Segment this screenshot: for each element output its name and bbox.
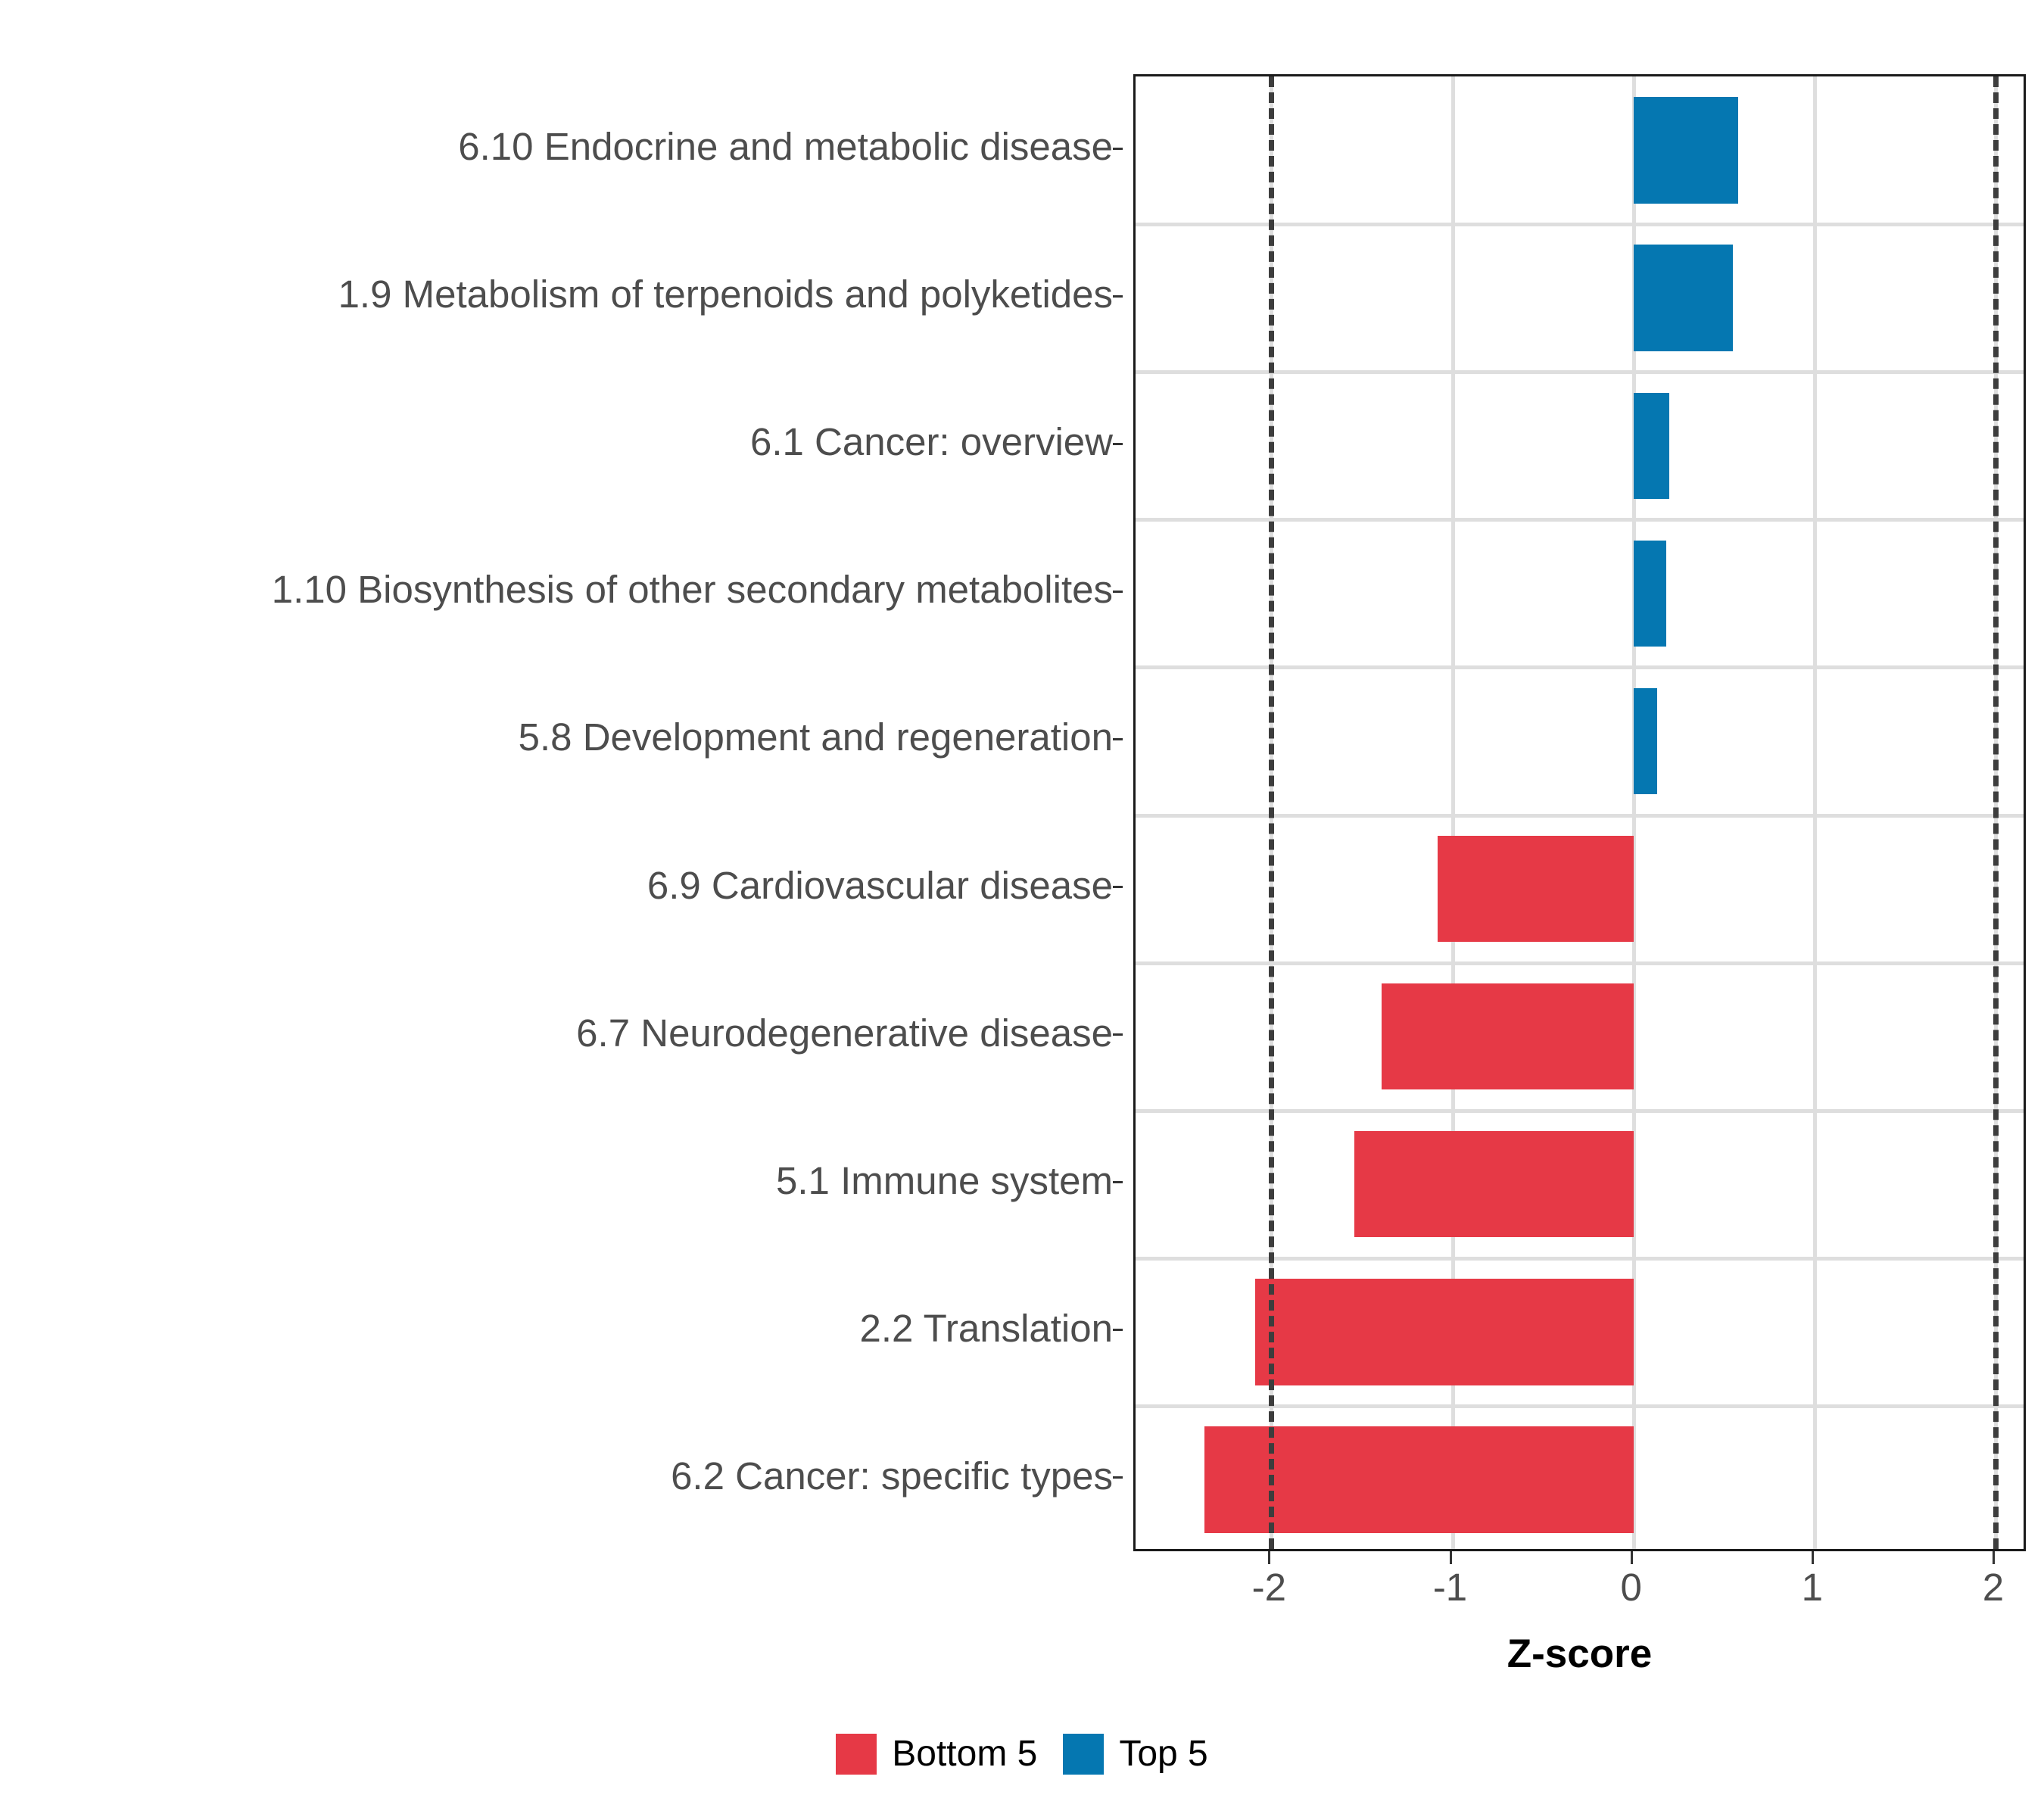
legend-label: Bottom 5 — [892, 1736, 1037, 1772]
bar — [1382, 983, 1633, 1089]
legend-swatch-icon — [836, 1734, 877, 1775]
chart-legend: Bottom 5Top 5 — [0, 1734, 2044, 1775]
bar — [1634, 245, 1734, 351]
y-axis-tick-label: 2.2 Translation — [859, 1309, 1113, 1348]
bar — [1255, 1279, 1634, 1385]
legend-swatch-icon — [1063, 1734, 1104, 1775]
bar — [1634, 688, 1657, 794]
x-axis-tick-label: 1 — [1802, 1568, 1823, 1607]
y-axis-tick-label: 5.1 Immune system — [776, 1161, 1113, 1200]
y-axis-tick-label: 5.8 Development and regeneration — [519, 718, 1113, 756]
x-axis-tick-mark — [1812, 1551, 1814, 1564]
y-axis-tick-mark — [1113, 295, 1123, 298]
y-axis-tick-mark — [1113, 148, 1123, 150]
y-axis-tick-mark — [1113, 591, 1123, 593]
x-axis-tick-label: -2 — [1252, 1568, 1286, 1607]
y-axis-tick-mark — [1113, 1476, 1123, 1479]
y-axis-tick-label: 6.9 Cardiovascular disease — [647, 866, 1113, 905]
bar — [1438, 836, 1633, 942]
bar — [1634, 97, 1739, 203]
y-axis-tick-mark — [1113, 1181, 1123, 1183]
x-axis-tick-label: 0 — [1620, 1568, 1641, 1607]
x-axis-tick-mark — [1450, 1551, 1452, 1564]
y-axis-tick-label: 6.1 Cancer: overview — [750, 422, 1113, 461]
y-axis-tick-mark — [1113, 886, 1123, 888]
x-axis-title: Z-score — [1133, 1634, 2026, 1674]
threshold-line — [1993, 76, 1999, 1549]
x-axis-tick-mark — [1993, 1551, 1995, 1564]
vertical-gridline — [1813, 76, 1817, 1549]
y-axis-tick-mark — [1113, 1329, 1123, 1331]
legend-item[interactable]: Top 5 — [1063, 1734, 1207, 1775]
chart-container: 6.10 Endocrine and metabolic disease1.9 … — [0, 0, 2044, 1817]
x-axis-tick-mark — [1268, 1551, 1270, 1564]
y-axis-tick-mark — [1113, 738, 1123, 740]
y-axis-tick-label: 6.2 Cancer: specific types — [671, 1457, 1113, 1495]
x-axis-tick-mark — [1631, 1551, 1633, 1564]
x-axis-tick-label: 2 — [1983, 1568, 2004, 1607]
x-axis-tick-label: -1 — [1433, 1568, 1467, 1607]
y-axis-tick-label: 1.10 Biosynthesis of other secondary met… — [272, 570, 1113, 609]
bar — [1634, 393, 1670, 499]
bar — [1354, 1131, 1633, 1237]
y-axis-tick-mark — [1113, 1033, 1123, 1036]
legend-label: Top 5 — [1119, 1736, 1207, 1772]
y-axis-tick-label: 1.9 Metabolism of terpenoids and polyket… — [338, 275, 1113, 313]
legend-item[interactable]: Bottom 5 — [836, 1734, 1037, 1775]
y-axis-tick-label: 6.7 Neurodegenerative disease — [576, 1014, 1113, 1052]
threshold-line — [1269, 76, 1274, 1549]
y-axis-label-group: 6.10 Endocrine and metabolic disease1.9 … — [0, 74, 1113, 1551]
plot-panel — [1133, 74, 2026, 1551]
y-axis-tick-mark — [1113, 443, 1123, 445]
y-axis-tick-label: 6.10 Endocrine and metabolic disease — [458, 127, 1113, 166]
bar — [1634, 541, 1666, 647]
